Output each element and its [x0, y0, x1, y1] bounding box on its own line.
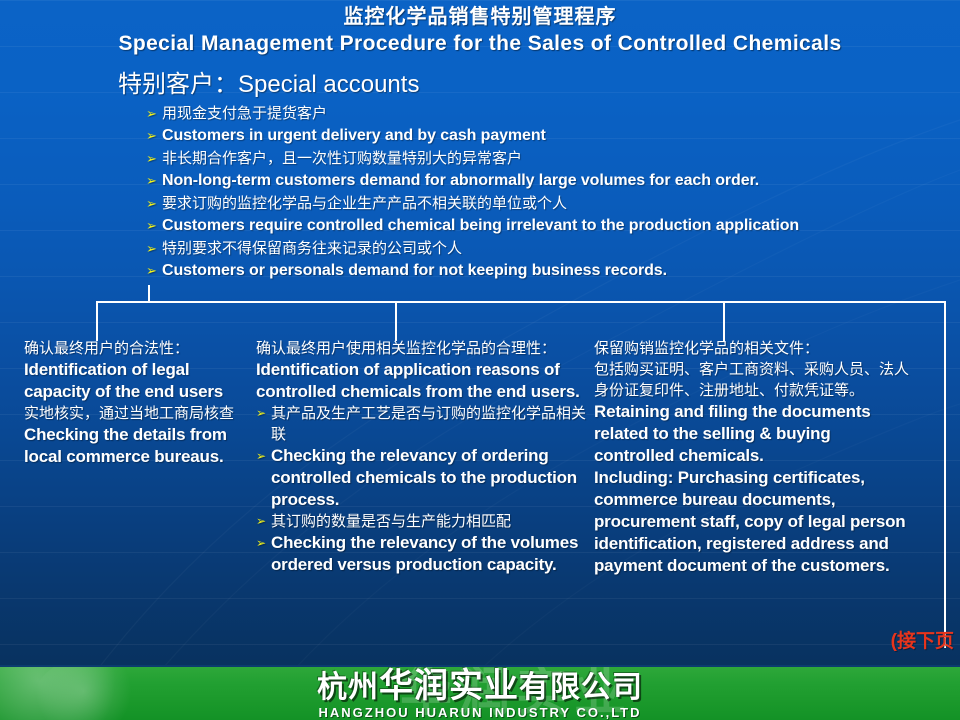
continuation-note: (接下页 — [891, 630, 954, 654]
list-item-label: Checking the relevancy of ordering contr… — [271, 446, 577, 509]
column-text-chinese: 实地核实，通过当地工商局核查 — [24, 403, 240, 424]
slide-title: 监控化学品销售特别管理程序 Special Management Procedu… — [0, 4, 960, 58]
list-item-label: Customers or personals demand for not ke… — [162, 262, 667, 279]
bullet-arrow-icon: ➢ — [256, 445, 266, 467]
list-item-label: 特别要求不得保留商务往来记录的公司或个人 — [162, 240, 462, 257]
column-legal-capacity: 确认最终用户的合法性： Identification of legal capa… — [24, 338, 240, 468]
column-text-chinese: 保留购销监控化学品的相关文件： — [594, 338, 914, 359]
column-text-english: Retaining and filing the documents relat… — [594, 401, 914, 467]
company-name-chinese: 杭州华润实业有限公司 — [0, 667, 960, 705]
list-item-label: Checking the relevancy of the volumes or… — [271, 533, 578, 574]
connector-line-horizontal — [96, 301, 945, 303]
column-text-chinese: 确认最终用户的合法性： — [24, 338, 240, 359]
list-item: ➢ Non-long-term customers demand for abn… — [146, 169, 960, 193]
list-item-label: Customers in urgent delivery and by cash… — [162, 127, 546, 144]
list-item: ➢ 非长期合作客户，且一次性订购数量特别大的异常客户 — [146, 148, 960, 169]
bullet-arrow-icon: ➢ — [146, 238, 157, 259]
column-text-english: Identification of legal capacity of the … — [24, 359, 240, 403]
list-item-label: Non-long-term customers demand for abnor… — [162, 172, 759, 189]
bullet-arrow-icon: ➢ — [146, 103, 157, 124]
footer-banner: 华润实业 杭州华润实业有限公司 HANGZHOU HUARUN INDUSTRY… — [0, 665, 960, 720]
company-logo: 杭州华润实业有限公司 HANGZHOU HUARUN INDUSTRY CO.,… — [0, 667, 960, 720]
column-text-english: Including: Purchasing certificates, comm… — [594, 467, 914, 577]
company-name-prefix: 杭州 — [317, 671, 379, 704]
connector-line-branch-middle-1 — [395, 301, 397, 341]
bullet-arrow-icon: ➢ — [256, 511, 266, 532]
list-item-label: 要求订购的监控化学品与企业生产产品不相关联的单位或个人 — [162, 195, 567, 212]
list-item: ➢ 要求订购的监控化学品与企业生产产品不相关联的单位或个人 — [146, 193, 960, 214]
column-text-chinese: 确认最终用户使用相关监控化学品的合理性： — [256, 338, 586, 359]
connector-line-branch-left — [96, 301, 98, 341]
list-item: ➢ Customers require controlled chemical … — [146, 214, 960, 238]
page-title-english: Special Management Procedure for the Sal… — [0, 30, 960, 58]
special-accounts-bullet-list: ➢ 用现金支付急于提货客户 ➢ Customers in urgent deli… — [146, 103, 960, 283]
column-document-retention: 保留购销监控化学品的相关文件： 包括购买证明、客户工商资料、采购人员、法人身份证… — [594, 338, 914, 577]
connector-line-branch-right — [944, 301, 946, 648]
column-text-english: Identification of application reasons of… — [256, 359, 586, 403]
list-item: ➢ 用现金支付急于提货客户 — [146, 103, 960, 124]
bullet-arrow-icon: ➢ — [146, 148, 157, 169]
connector-line-branch-middle-2 — [723, 301, 725, 341]
bullet-arrow-icon: ➢ — [256, 532, 266, 554]
page-title-chinese: 监控化学品销售特别管理程序 — [0, 4, 960, 30]
bullet-arrow-icon: ➢ — [146, 214, 157, 238]
list-item: ➢ Checking the relevancy of ordering con… — [256, 445, 586, 511]
list-item-label: 其产品及生产工艺是否与订购的监控化学品相关联 — [271, 405, 586, 443]
list-item-label: 用现金支付急于提货客户 — [162, 105, 327, 122]
column-application-reasons: 确认最终用户使用相关监控化学品的合理性： Identification of a… — [256, 338, 586, 576]
company-name-suffix: 有限公司 — [519, 671, 643, 704]
list-item: ➢ Customers or personals demand for not … — [146, 259, 960, 283]
bullet-arrow-icon: ➢ — [146, 124, 157, 148]
slide-canvas: 监控化学品销售特别管理程序 Special Management Procedu… — [0, 0, 960, 720]
list-item: ➢ 其产品及生产工艺是否与订购的监控化学品相关联 — [256, 403, 586, 445]
list-item-label: 其订购的数量是否与生产能力相匹配 — [271, 513, 511, 530]
company-name-main: 华润实业 — [379, 667, 519, 705]
company-name-english: HANGZHOU HUARUN INDUSTRY CO.,LTD — [0, 705, 960, 720]
bullet-arrow-icon: ➢ — [146, 169, 157, 193]
section-subheading: 特别客户：Special accounts — [118, 70, 419, 100]
list-item: ➢ 其订购的数量是否与生产能力相匹配 — [256, 511, 586, 532]
list-item: ➢ Checking the relevancy of the volumes … — [256, 532, 586, 576]
list-item-label: Customers require controlled chemical be… — [162, 217, 799, 234]
list-item: ➢ 特别要求不得保留商务往来记录的公司或个人 — [146, 238, 960, 259]
bullet-arrow-icon: ➢ — [146, 193, 157, 214]
connector-line-vertical-stem — [148, 285, 150, 302]
bullet-arrow-icon: ➢ — [146, 259, 157, 283]
column-text-chinese: 包括购买证明、客户工商资料、采购人员、法人身份证复印件、注册地址、付款凭证等。 — [594, 359, 914, 401]
list-item: ➢ Customers in urgent delivery and by ca… — [146, 124, 960, 148]
bullet-arrow-icon: ➢ — [256, 403, 266, 424]
list-item-label: 非长期合作客户，且一次性订购数量特别大的异常客户 — [162, 150, 522, 167]
column-text-english: Checking the details from local commerce… — [24, 424, 240, 468]
